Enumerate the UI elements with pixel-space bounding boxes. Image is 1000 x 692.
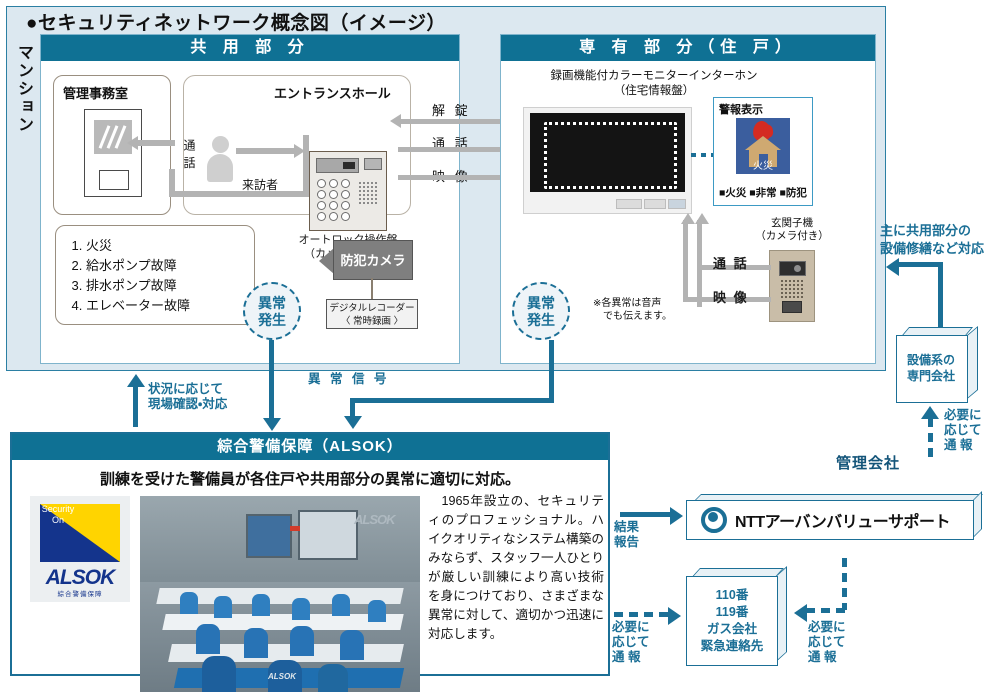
camera-to-recorder-line — [371, 278, 373, 300]
alsok-logo: Security On ALSOK 綜合警備保障 — [30, 496, 130, 602]
repair-note: 主に共用部分の 設備修繕など対応 — [880, 222, 998, 258]
abnormal-signal-line-common — [269, 340, 274, 422]
signal-labels-group: 解 錠 通 話 映 像 — [432, 100, 486, 185]
monitor-screen-dotted-frame — [544, 122, 677, 189]
talk-line-v2 — [303, 135, 309, 195]
alsok-panel: 綜合警備保障（ALSOK） 訓練を受けた警備員が各住戸や共用部分の異常に適切に対… — [10, 432, 610, 676]
ntt-logo-icon — [701, 507, 727, 533]
door-talk-line-up — [697, 220, 702, 266]
visitor-head-icon — [212, 136, 229, 153]
alsok-logo-name: ALSOK — [30, 566, 130, 590]
abnormal-signal-line-private-h — [350, 398, 554, 403]
management-office-title: 管理事務室 — [63, 83, 128, 102]
panel-speaker-grille — [359, 182, 378, 205]
talk-line-to-office — [137, 140, 175, 146]
management-company-label: 管理会社 — [836, 452, 900, 473]
ntt-to-emergency-line-v — [842, 558, 847, 610]
ntt-to-emergency-line-h — [806, 608, 846, 613]
talk-line-h — [169, 191, 309, 197]
autolock-panel-device[interactable] — [309, 151, 387, 231]
alarm-display-title: 警報表示 — [719, 101, 812, 117]
abnormal-badge-private: 異常 発生 — [512, 282, 570, 340]
alsok-header: 綜合警備保障（ALSOK） — [12, 434, 608, 460]
security-camera-label: 防犯カメラ — [334, 250, 412, 269]
notify-label-left: 必要に 応じて 通 報 — [612, 620, 650, 665]
visitor-to-panel-line — [236, 148, 296, 154]
abnormal-signal-label: 異 常 信 号 — [308, 372, 389, 387]
digital-recorder-box: デジタルレコーダー 〈 常時録画 〉 — [326, 299, 418, 329]
fault-item: エレベーター故障 — [86, 296, 254, 316]
ntt-company-name: NTTアーバンバリューサポート — [735, 508, 950, 532]
mansion-vertical-label: マンション — [10, 44, 36, 184]
repair-flow-arrow — [886, 258, 899, 276]
intercom-caption: 録画機能付カラーモニターインターホン （住宅情報盤） — [509, 69, 799, 99]
common-area-header: 共 用 部 分 — [41, 35, 459, 61]
abnormal-signal-arrow-common — [263, 418, 281, 431]
abnormal-signal-arrow-private — [344, 416, 362, 429]
security-camera-box: 防犯カメラ — [333, 240, 413, 280]
abnormal-signal-line-private-v — [549, 340, 554, 402]
fault-list-box: 火災 給水ポンプ故障 排水ポンプ故障 エレベーター故障 — [55, 225, 255, 325]
door-video-arrow — [681, 213, 695, 224]
door-station-device[interactable] — [769, 250, 815, 322]
alsok-logo-tagline: Security On — [38, 504, 78, 526]
monitor-button-row[interactable] — [530, 199, 685, 209]
notify-line-right — [928, 418, 933, 460]
alsok-lead-text: 訓練を受けた警備員が各住戸や共用部分の異常に適切に対応。 — [12, 468, 608, 489]
result-report-line — [620, 512, 672, 517]
fault-item: 排水ポンプ故障 — [86, 276, 254, 296]
notify-arrow-left — [668, 607, 681, 625]
alarm-display-box: 警報表示 火災 ■火災 ■非常 ■防犯 — [713, 97, 813, 206]
fault-list: 火災 給水ポンプ故障 排水ポンプ故障 エレベーター故障 — [56, 226, 254, 316]
door-station-call-button[interactable] — [782, 301, 802, 313]
monitor-to-alarm-dotted-line — [691, 153, 715, 157]
fault-item: 火災 — [86, 236, 254, 256]
result-report-arrow — [670, 507, 683, 525]
fire-icon-word: 火災 — [736, 157, 790, 172]
panel-display — [316, 158, 359, 173]
alsok-control-room-photo: ALSOK ALSOK — [140, 496, 420, 692]
notify-label-right: 必要に 応じて 通 報 — [944, 408, 982, 453]
alsok-logo-subtitle: 綜合警備保障 — [30, 588, 130, 598]
talk-label-common: 通 話 — [181, 139, 198, 185]
talk-arrow-office — [127, 136, 138, 150]
site-check-line — [133, 385, 138, 427]
camera-lens-icon — [319, 248, 334, 274]
door-video-line-v — [683, 220, 688, 300]
fault-item: 給水ポンプ故障 — [86, 256, 254, 276]
fire-alarm-icon: 火災 — [736, 118, 790, 174]
notify-line-left — [614, 612, 672, 617]
voice-note: ※各異常は音声 でも伝えます。 — [593, 297, 701, 323]
signal-unlock-label: 解 錠 — [432, 100, 486, 119]
page-title: ●セキュリティネットワーク概念図（イメージ） — [26, 8, 546, 35]
emergency-contacts-box: 110番 119番 ガス会社 緊急連絡先 — [686, 568, 790, 664]
private-talk-label: 通 話 — [713, 253, 749, 272]
panel-display-secondary — [364, 158, 382, 170]
repair-flow-line-h — [898, 262, 943, 267]
house-roof-shape — [745, 136, 781, 150]
ntt-company-face: NTTアーバンバリューサポート — [686, 500, 974, 540]
notify-arrow-right — [921, 406, 939, 419]
office-intercom-device — [84, 109, 142, 197]
visitor-body-icon — [207, 154, 233, 182]
monitor-screen — [530, 113, 685, 192]
abnormal-badge-common: 異常 発生 — [243, 282, 301, 340]
ntt-company-box: NTTアーバンバリューサポート — [686, 494, 986, 538]
site-check-arrow — [127, 374, 145, 387]
door-station-caption: 玄関子機 （カメラ付き） — [739, 217, 845, 243]
result-report-label: 結果 報告 — [614, 520, 639, 550]
private-video-label: 映 像 — [713, 287, 749, 306]
intercom-monitor-device[interactable] — [523, 107, 692, 214]
ntt-to-emergency-arrow — [794, 604, 807, 622]
entrance-hall-title: エントランスホール — [274, 83, 391, 102]
private-area-header: 専 有 部 分（住 戸） — [501, 35, 875, 61]
door-station-camera-icon — [779, 261, 806, 276]
alsok-description: 1965年設立の、セキュリティのプロフェッショナル。ハイクオリティなシステム構築… — [428, 492, 604, 644]
repair-flow-line-v — [938, 262, 943, 334]
site-check-label: 状況に応じて 現場確認・対応 — [148, 382, 227, 412]
notify-label-ntt: 必要に 応じて 通 報 — [808, 620, 846, 665]
spec-company-label: 設備系の 専門会社 — [896, 335, 966, 401]
emergency-contacts-face: 110番 119番 ガス会社 緊急連絡先 — [686, 576, 778, 666]
unlock-arrow — [390, 114, 401, 128]
alarm-types-list: ■火災 ■非常 ■防犯 — [714, 185, 812, 200]
panel-keypad[interactable] — [317, 179, 351, 221]
door-station-grille — [781, 280, 804, 299]
spec-company-box: 設備系の 専門会社 — [896, 327, 978, 401]
